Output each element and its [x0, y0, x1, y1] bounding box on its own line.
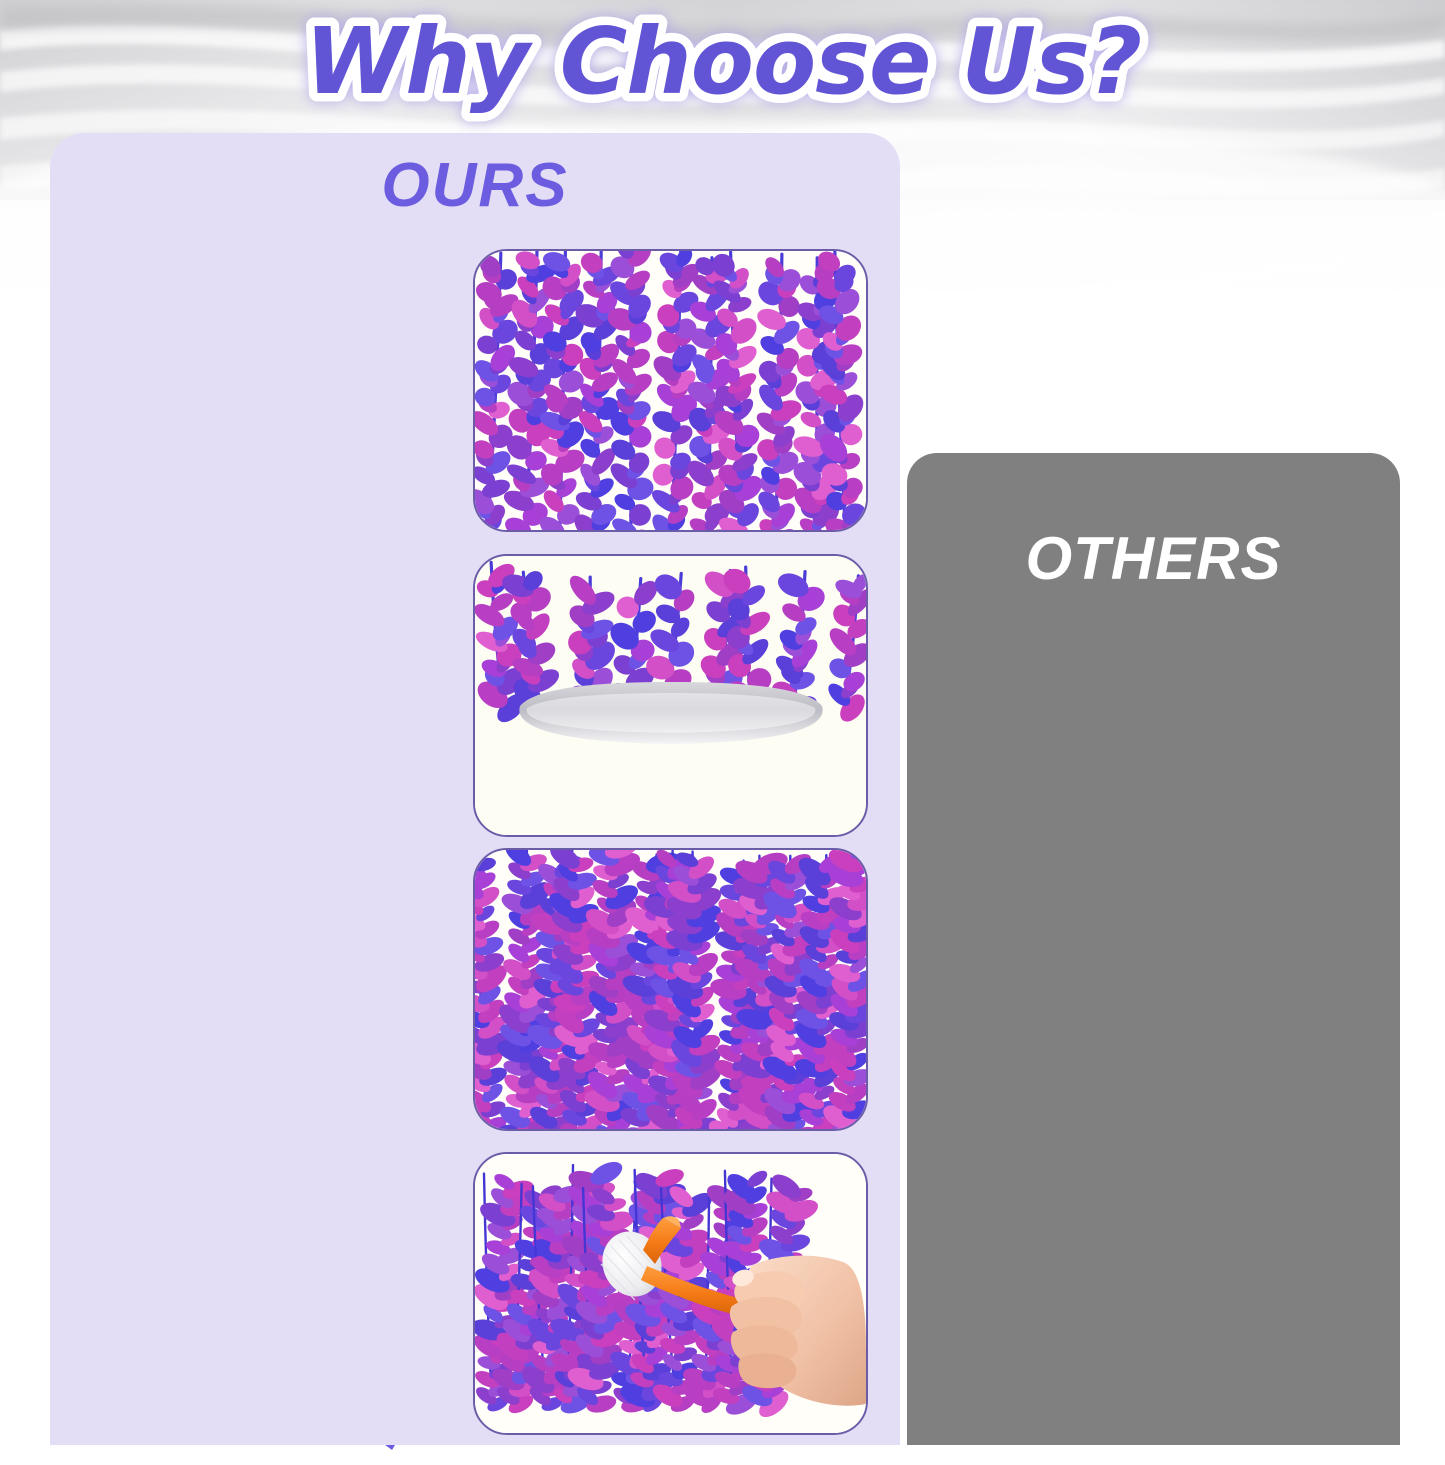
page-title-svg: Why Choose Us? Why Choose Us? [223, 5, 1223, 125]
soft-feathery-purple-plants [475, 850, 866, 1129]
ours-feature-image-1 [473, 249, 868, 532]
others-panel [907, 453, 1400, 1445]
hand-brushing-plants-with-orange-brush [475, 1154, 866, 1433]
title-text: Why Choose Us? [304, 8, 1140, 115]
ours-feature-image-3 [473, 848, 868, 1131]
purple-aquarium-plants-closeup [475, 251, 866, 530]
others-heading: OTHERS [907, 524, 1400, 593]
plant-with-weighted-ceramic-base [475, 556, 866, 835]
ours-feature-image-2 [473, 554, 868, 837]
ours-heading: OURS [50, 150, 900, 221]
ours-feature-image-4 [473, 1152, 868, 1435]
hand-icon [730, 1256, 866, 1406]
page-title: Why Choose Us? Why Choose Us? [0, 10, 1445, 120]
